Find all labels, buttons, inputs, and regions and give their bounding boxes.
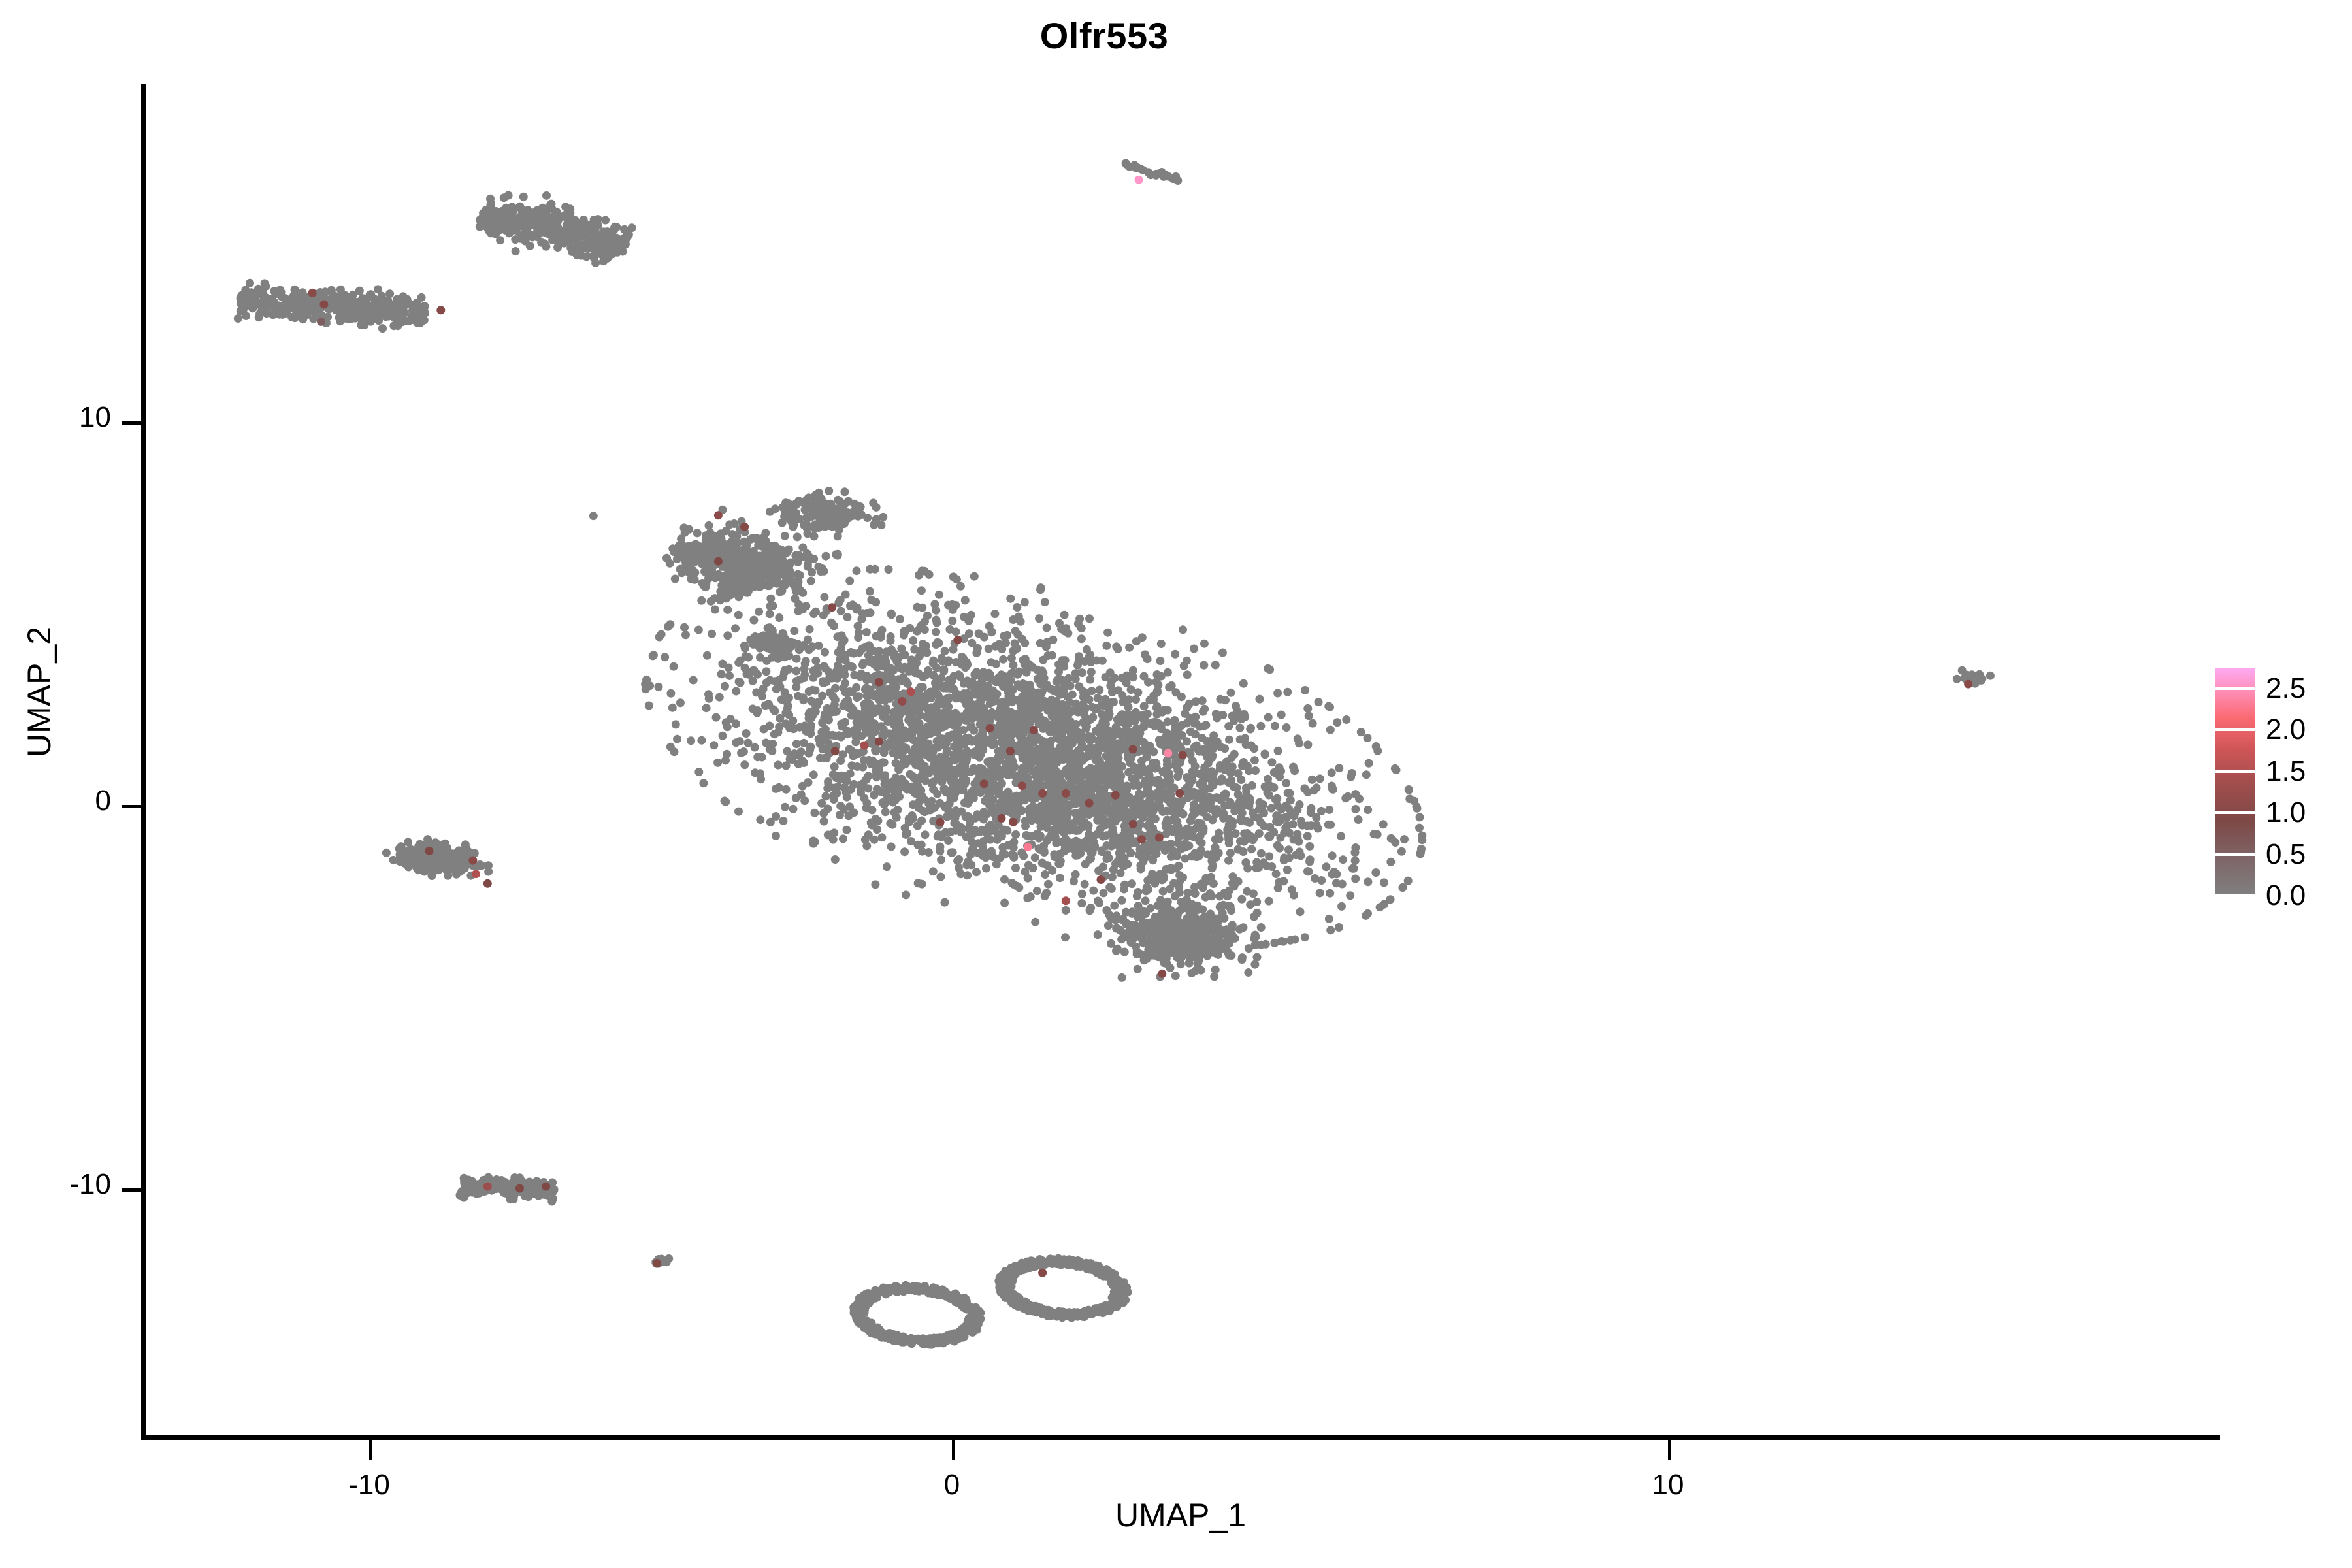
colorbar-tick-2-0 — [2215, 728, 2255, 731]
y-ticklabel-neg10: -10 — [13, 1168, 111, 1201]
colorbar-label-1-5: 1.5 — [2266, 755, 2306, 788]
y-tick-10 — [122, 421, 142, 425]
x-tick-neg10 — [369, 1439, 372, 1460]
colorbar-label-0-0: 0.0 — [2266, 879, 2306, 912]
colorbar-label-1-0: 1.0 — [2266, 796, 2306, 829]
y-tick-neg10 — [122, 1188, 142, 1192]
colorbar-gradient — [2215, 668, 2255, 896]
x-axis-line — [141, 1435, 2220, 1440]
colorbar-label-0-5: 0.5 — [2266, 838, 2306, 871]
colorbar-label-2-5: 2.5 — [2266, 672, 2306, 705]
colorbar-legend: 2.52.01.51.00.50.0 — [2215, 668, 2339, 903]
plot-panel — [144, 84, 2208, 1437]
page-title: Olfr553 — [0, 14, 2208, 57]
colorbar-label-2-0: 2.0 — [2266, 713, 2306, 746]
x-axis-title: UMAP_1 — [141, 1496, 2220, 1534]
y-tick-0 — [122, 805, 142, 808]
colorbar-tick-0-0 — [2215, 894, 2255, 897]
y-axis-title: UMAP_2 — [21, 627, 57, 757]
y-axis-line — [141, 84, 146, 1440]
colorbar-tick-0-5 — [2215, 853, 2255, 856]
colorbar-tick-1-5 — [2215, 770, 2255, 773]
x-tick-10 — [1668, 1439, 1671, 1460]
plot-root: Olfr553 10 0 -10 -10 0 10 UMAP_1 UMAP_2 … — [0, 0, 2352, 1568]
y-axis-title-wrap: UMAP_2 — [20, 398, 58, 986]
x-tick-0 — [952, 1439, 955, 1460]
colorbar-tick-1-0 — [2215, 811, 2255, 814]
colorbar-tick-2-5 — [2215, 687, 2255, 690]
